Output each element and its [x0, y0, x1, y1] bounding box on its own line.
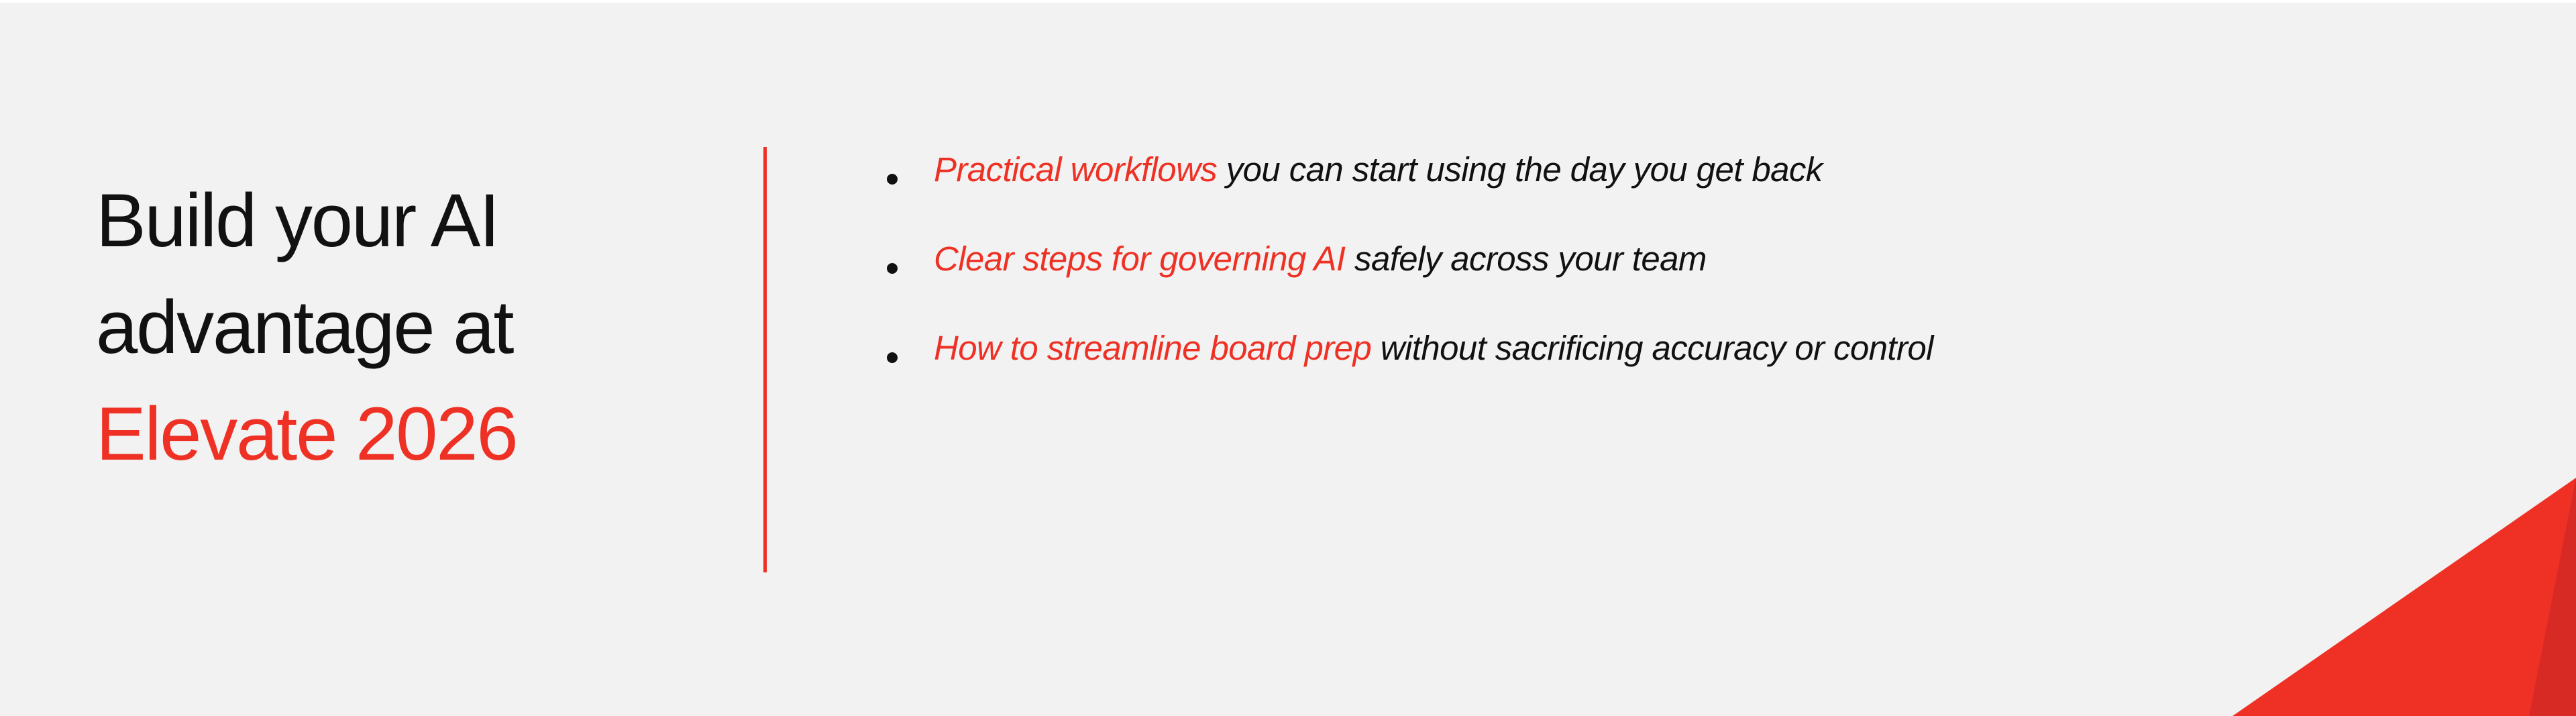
- list-item-highlight: Clear steps for governing AI: [934, 240, 1345, 278]
- list-item-rest: safely across your team: [1345, 240, 1706, 278]
- list-item: How to streamline board prep without sac…: [879, 324, 2422, 372]
- page-title: Build your AI advantage at Elevate 2026: [96, 167, 727, 487]
- chevron-light-triangle: [2233, 478, 2576, 716]
- slide-canvas: Build your AI advantage at Elevate 2026 …: [0, 0, 2576, 716]
- bullet-dot-icon: [887, 263, 898, 274]
- red-corner-chevron-graphic: [2220, 448, 2576, 716]
- list-item-text: How to streamline board prep without sac…: [934, 324, 2422, 372]
- bullet-dot-icon: [887, 174, 898, 185]
- list-item: Practical workflows you can start using …: [879, 146, 2422, 193]
- headline-line-1: Build your AI: [96, 167, 727, 274]
- list-item-text: Practical workflows you can start using …: [934, 146, 2422, 193]
- list-item: Clear steps for governing AI safely acro…: [879, 235, 2422, 283]
- headline-line-3: Elevate 2026: [96, 380, 727, 487]
- bullet-list: Practical workflows you can start using …: [879, 146, 2422, 372]
- list-item-highlight: How to streamline board prep: [934, 329, 1371, 367]
- list-item-rest: you can start using the day you get back: [1217, 150, 1822, 189]
- chevron-dark-triangle: [2529, 478, 2576, 716]
- list-item-text: Clear steps for governing AI safely acro…: [934, 235, 2422, 283]
- headline-line-2: advantage at: [96, 274, 727, 380]
- list-item-highlight: Practical workflows: [934, 150, 1217, 189]
- bullet-dot-icon: [887, 352, 898, 363]
- corner-chevron-svg: [2220, 448, 2576, 716]
- vertical-divider: [763, 147, 767, 572]
- list-item-rest: without sacrificing accuracy or control: [1371, 329, 1933, 367]
